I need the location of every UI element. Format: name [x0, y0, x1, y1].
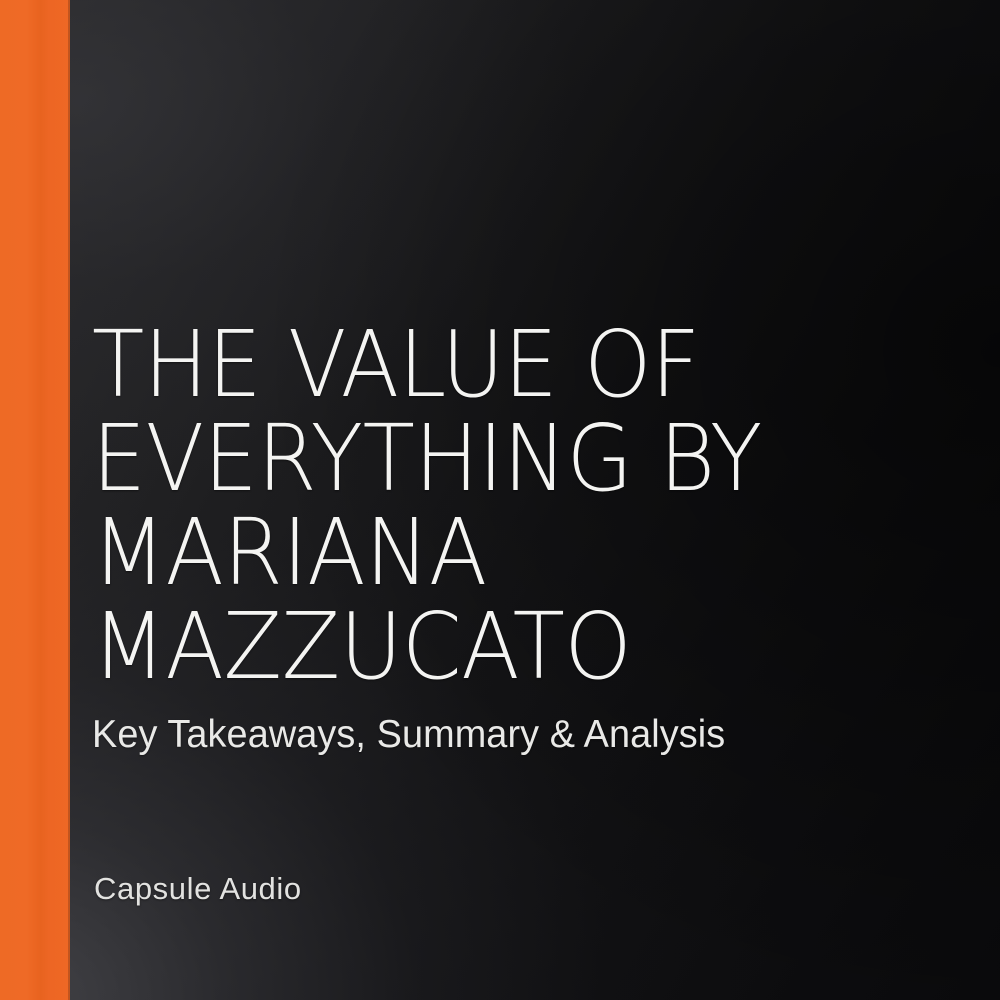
cover-title: THE VALUE OF EVERYTHING BY MARIANA MAZZU…: [92, 318, 762, 694]
title-line-4: MAZZUCATO: [92, 600, 762, 694]
cover-publisher: Capsule Audio: [94, 870, 302, 908]
cover-subtitle: Key Takeaways, Summary & Analysis: [92, 712, 725, 758]
title-line-3: MARIANA: [92, 506, 762, 600]
audiobook-cover: THE VALUE OF EVERYTHING BY MARIANA MAZZU…: [0, 0, 1000, 1000]
title-line-2: EVERYTHING BY: [92, 412, 762, 506]
cover-content: THE VALUE OF EVERYTHING BY MARIANA MAZZU…: [92, 0, 952, 1000]
title-line-1: THE VALUE OF: [92, 318, 762, 412]
orange-accent-bar: [0, 0, 70, 1000]
